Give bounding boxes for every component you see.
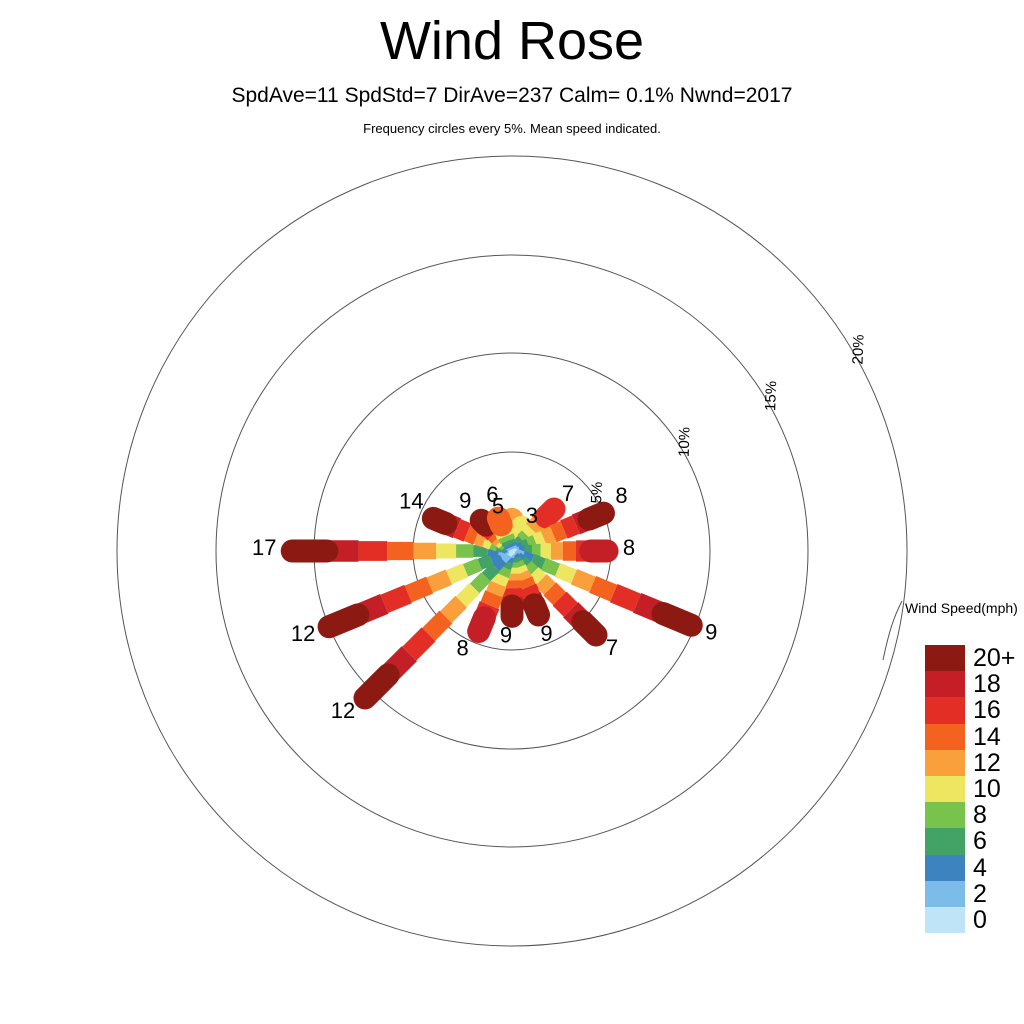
- petal-segment: [429, 617, 446, 634]
- petal-segment: [553, 530, 564, 534]
- legend-label: 20+: [973, 644, 1015, 673]
- legend-row: 16: [925, 697, 965, 723]
- petal-segment: [508, 541, 510, 545]
- legend-swatch-14: [925, 724, 965, 750]
- petal-segment: [502, 568, 505, 575]
- legend-row: 0: [925, 907, 965, 933]
- wind-rose-figure: Wind Rose SpdAve=11 SpdStd=7 DirAve=237 …: [0, 0, 1024, 1024]
- petal-segment: [477, 536, 485, 539]
- legend-label: 4: [973, 854, 987, 883]
- legend-swatch-0: [925, 907, 965, 933]
- petal-segment: [384, 594, 408, 604]
- mean-speed-label-SW: 12: [331, 698, 355, 723]
- petal-segment: [479, 618, 485, 632]
- petal-segment: [560, 599, 571, 610]
- petal-segment: [449, 570, 466, 577]
- mean-speed-label-ENE: 8: [615, 483, 627, 508]
- legend-swatch-16: [925, 697, 965, 723]
- mean-speed-label-SE: 7: [606, 635, 618, 660]
- petal-segment: [509, 544, 510, 547]
- petal-segment: [491, 556, 500, 560]
- petal-segment: [528, 541, 535, 544]
- petal-segment: [589, 513, 603, 519]
- petal-segment: [544, 564, 558, 570]
- petal-segment: [446, 602, 461, 617]
- mean-speed-label-S: 9: [500, 622, 512, 647]
- mean-speed-label-W: 17: [252, 535, 276, 560]
- legend-row: 2: [925, 881, 965, 907]
- legend-label: 2: [973, 880, 987, 909]
- legend-label: 6: [973, 827, 987, 856]
- mean-speed-label-WNW: 14: [399, 488, 423, 513]
- petal-segment: [457, 528, 467, 532]
- legend-label: 18: [973, 670, 1001, 699]
- petal-segment: [329, 615, 358, 627]
- petal-segment: [663, 614, 691, 626]
- legend-row: 4: [925, 855, 965, 881]
- legend-swatch-20plus: [925, 645, 965, 671]
- petal-segment: [498, 575, 502, 584]
- petal-segment: [465, 564, 479, 570]
- legend-swatch-4: [925, 855, 965, 881]
- mean-speed-label-NW: 9: [459, 488, 471, 513]
- petal-segment: [490, 594, 495, 605]
- petal-segment: [494, 584, 498, 594]
- ring-labels: 5%10%15%20%: [588, 334, 867, 504]
- petal-segment: [534, 605, 538, 615]
- petal-segment: [533, 572, 541, 580]
- legend-row: 12: [925, 750, 965, 776]
- petal-segment: [535, 538, 543, 541]
- legend-label: 10: [973, 775, 1001, 804]
- petal-segment: [506, 536, 508, 541]
- petal-segment: [409, 634, 428, 653]
- legend-swatch-18: [925, 671, 965, 697]
- petal-segment: [614, 593, 637, 603]
- legend-label: 12: [973, 749, 1001, 778]
- ring-label-10pct: 10%: [676, 427, 694, 458]
- legend-row: 20+: [925, 645, 965, 671]
- petal-segment: [467, 533, 476, 537]
- ring-label-5pct: 5%: [588, 481, 606, 503]
- petal-segment: [550, 589, 560, 599]
- mean-speed-label-E: 8: [623, 535, 635, 560]
- legend-row: 6: [925, 828, 965, 854]
- mean-speed-label-NNW: 6: [486, 482, 498, 507]
- legend-label: 14: [973, 723, 1001, 752]
- mean-speed-label-NE: 7: [562, 481, 574, 506]
- legend-swatch-2: [925, 881, 965, 907]
- petal-segment: [593, 584, 614, 593]
- legend-color-scale: 20+181614121086420: [925, 645, 965, 933]
- legend-label: 16: [973, 696, 1001, 725]
- petal-segment: [511, 547, 512, 549]
- petal-segment: [574, 577, 593, 585]
- petal-segment: [583, 622, 596, 635]
- petal-segment: [521, 573, 524, 580]
- petal-segment: [481, 520, 486, 525]
- petal-segment: [408, 585, 430, 594]
- petal-segment: [544, 534, 554, 538]
- petal-segment: [558, 570, 574, 577]
- petal-segment: [541, 580, 550, 589]
- ring-label-15pct: 15%: [762, 381, 780, 412]
- petal-segment: [524, 580, 527, 588]
- petal-segment: [546, 509, 554, 517]
- petal-segment: [475, 577, 486, 588]
- legend-swatch-10: [925, 776, 965, 802]
- legend-swatch-8: [925, 802, 965, 828]
- legend-title: Wind Speed(mph): [905, 600, 1018, 616]
- mean-speed-label-SSE: 9: [540, 621, 552, 646]
- petal-segment: [365, 675, 388, 698]
- wind-rose-plot: 53788979981212171496 5%10%15%20%: [0, 0, 1024, 1024]
- legend-row: 14: [925, 724, 965, 750]
- mean-speed-label-SSW: 8: [457, 635, 469, 660]
- petal-segment: [461, 588, 474, 601]
- mean-speed-label-WSW: 12: [291, 621, 315, 646]
- legend-swatch-6: [925, 828, 965, 854]
- petal-segment: [511, 550, 512, 551]
- legend-label: 8: [973, 801, 987, 830]
- petal-segment: [486, 568, 495, 577]
- ring-label-20pct: 20%: [850, 334, 868, 365]
- legend-row: 18: [925, 671, 965, 697]
- petal-segment: [532, 559, 544, 564]
- petal-segment: [433, 518, 445, 523]
- petal-segment: [564, 525, 576, 530]
- legend-label: 0: [973, 906, 987, 935]
- legend-swatch-12: [925, 750, 965, 776]
- mean-speed-label-NNE: 3: [526, 503, 538, 528]
- petal-segment: [527, 530, 532, 535]
- petal-segment: [430, 577, 449, 585]
- legend-row: 10: [925, 776, 965, 802]
- petal-segment: [498, 518, 501, 525]
- mean-speed-label-ESE: 9: [705, 619, 717, 644]
- petal-segment: [480, 560, 492, 565]
- legend-row: 8: [925, 802, 965, 828]
